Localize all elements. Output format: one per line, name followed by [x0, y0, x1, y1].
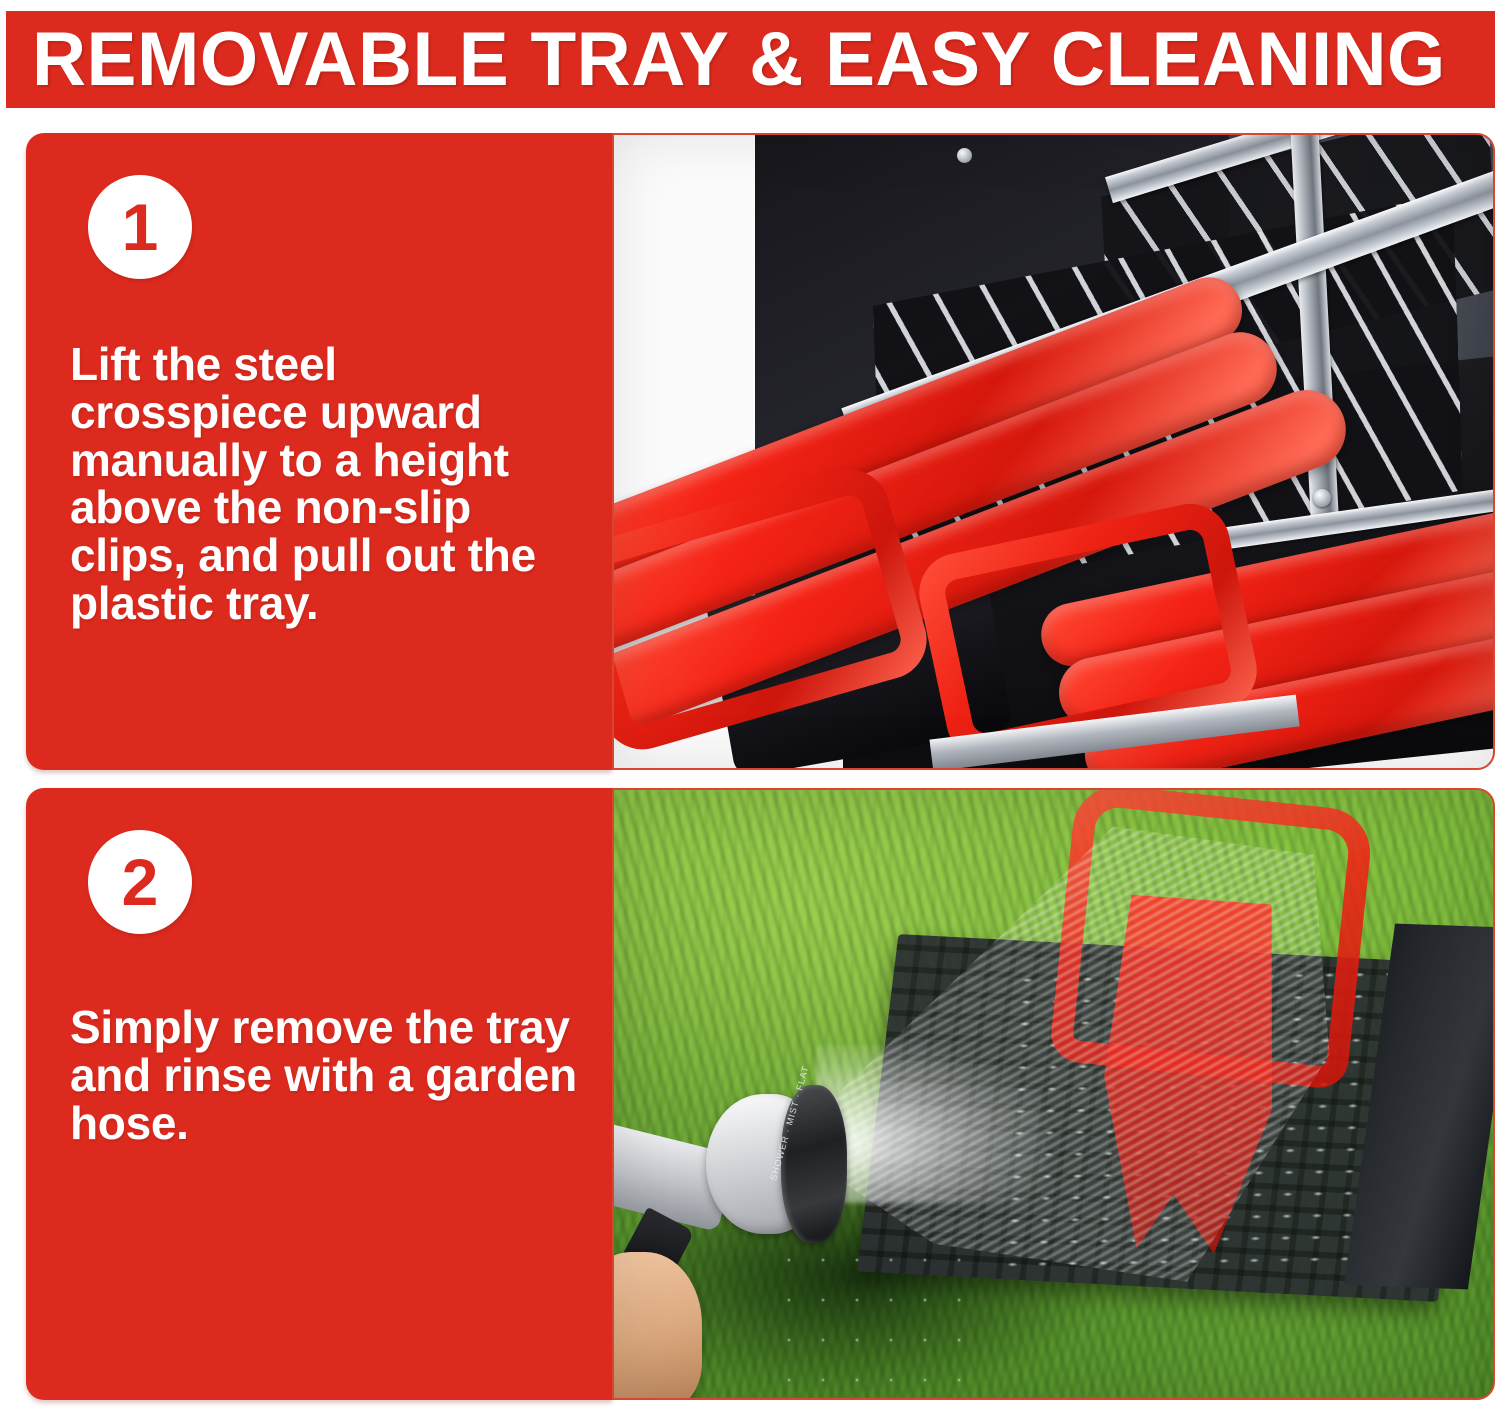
step-row-2: 2 Simply remove the tray and rinse with … — [26, 788, 1495, 1400]
step-row-1: 1 Lift the steel crosspiece upward manua… — [26, 133, 1495, 770]
step-1-photo — [612, 133, 1495, 770]
step-1-caption: Lift the steel crosspiece upward manuall… — [70, 341, 578, 628]
header-banner: REMOVABLE TRAY & EASY CLEANING — [6, 11, 1495, 108]
infographic-page: REMOVABLE TRAY & EASY CLEANING 1 Lift th… — [0, 0, 1500, 1411]
water-spray-core — [816, 1045, 1045, 1203]
hose-nozzle-selector-ring — [781, 1085, 847, 1243]
step-2-number-badge: 2 — [88, 830, 192, 934]
step-2-caption: Simply remove the tray and rinse with a … — [70, 1004, 578, 1147]
bolt-upper-icon — [957, 148, 972, 163]
water-droplets — [772, 1240, 965, 1386]
step-2-photo: SHOWER · MIST · FLAT — [612, 788, 1495, 1400]
step-2-text-panel: 2 Simply remove the tray and rinse with … — [26, 788, 612, 1400]
step-1-number-badge: 1 — [88, 175, 192, 279]
step-1-text-panel: 1 Lift the steel crosspiece upward manua… — [26, 133, 612, 770]
page-title: REMOVABLE TRAY & EASY CLEANING — [32, 22, 1446, 98]
